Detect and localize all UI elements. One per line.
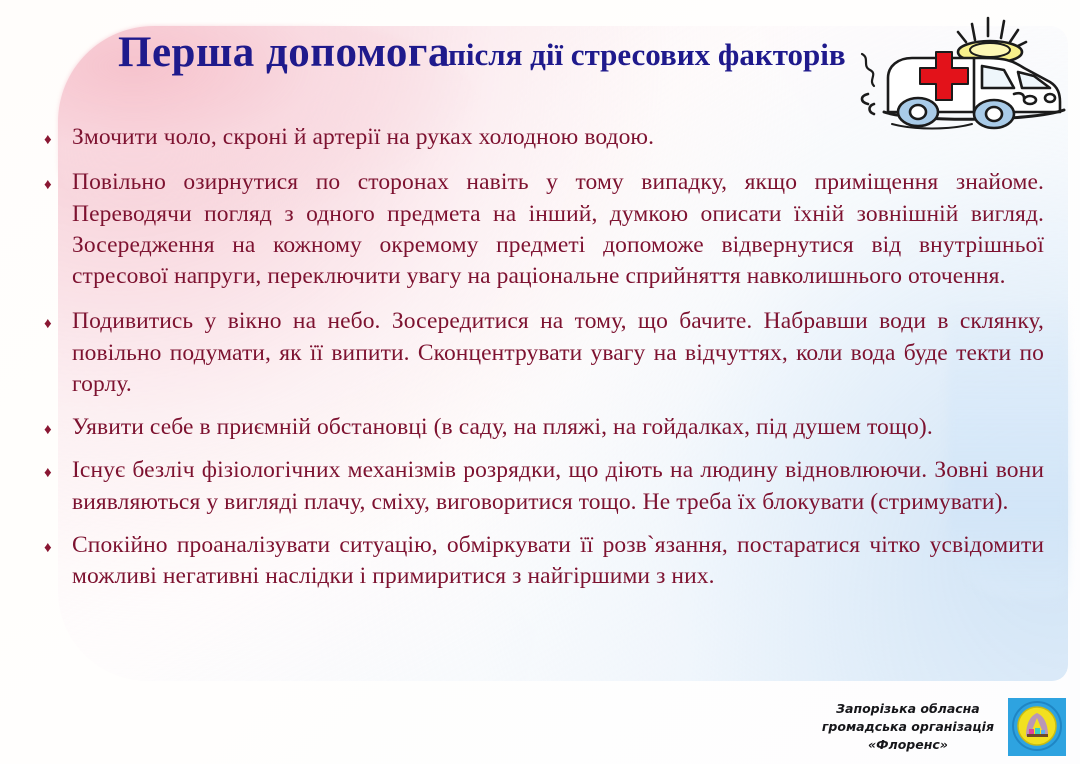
page-subtitle: після дії стресових факторів (448, 39, 846, 72)
footer: Запорізька обласна громадська організаці… (822, 698, 1066, 756)
list-item: ♦ Уявити себе в приємній обстановці (в с… (44, 412, 1044, 443)
diamond-bullet-icon: ♦ (44, 306, 72, 332)
list-item-text: Змочити чоло, скроні й артерії на руках … (72, 122, 1044, 153)
diamond-bullet-icon: ♦ (44, 455, 72, 481)
list-item-text: Уявити себе в приємній обстановці (в сад… (72, 412, 1044, 443)
organization-name: Запорізька обласна громадська організаці… (822, 700, 994, 753)
list-item-text: Спокійно проаналізувати ситуацію, обмірк… (72, 530, 1044, 593)
diamond-bullet-icon: ♦ (44, 530, 72, 556)
list-item: ♦ Спокійно проаналізувати ситуацію, обмі… (44, 530, 1044, 593)
list-item: ♦ Існує безліч фізіологічних механізмів … (44, 455, 1044, 518)
ambulance-icon (854, 8, 1074, 132)
diamond-bullet-icon: ♦ (44, 412, 72, 438)
diamond-bullet-icon: ♦ (44, 122, 72, 148)
slide-canvas: Перша допомога після дії стресових факто… (0, 0, 1080, 764)
list-item: ♦ Повільно озирнутися по сторонах навіть… (44, 167, 1044, 292)
page-title: Перша допомога (118, 30, 450, 75)
list-item: ♦ Змочити чоло, скроні й артерії на рука… (44, 122, 1044, 153)
list-item-text: Подивитись у вікно на небо. Зосередитися… (72, 306, 1044, 400)
florens-logo-icon (1008, 698, 1066, 756)
list-item-text: Повільно озирнутися по сторонах навіть у… (72, 167, 1044, 292)
diamond-bullet-icon: ♦ (44, 167, 72, 193)
list-item: ♦ Подивитись у вікно на небо. Зосередити… (44, 306, 1044, 400)
list-item-text: Існує безліч фізіологічних механізмів ро… (72, 455, 1044, 518)
advice-list: ♦ Змочити чоло, скроні й артерії на рука… (44, 122, 1044, 592)
